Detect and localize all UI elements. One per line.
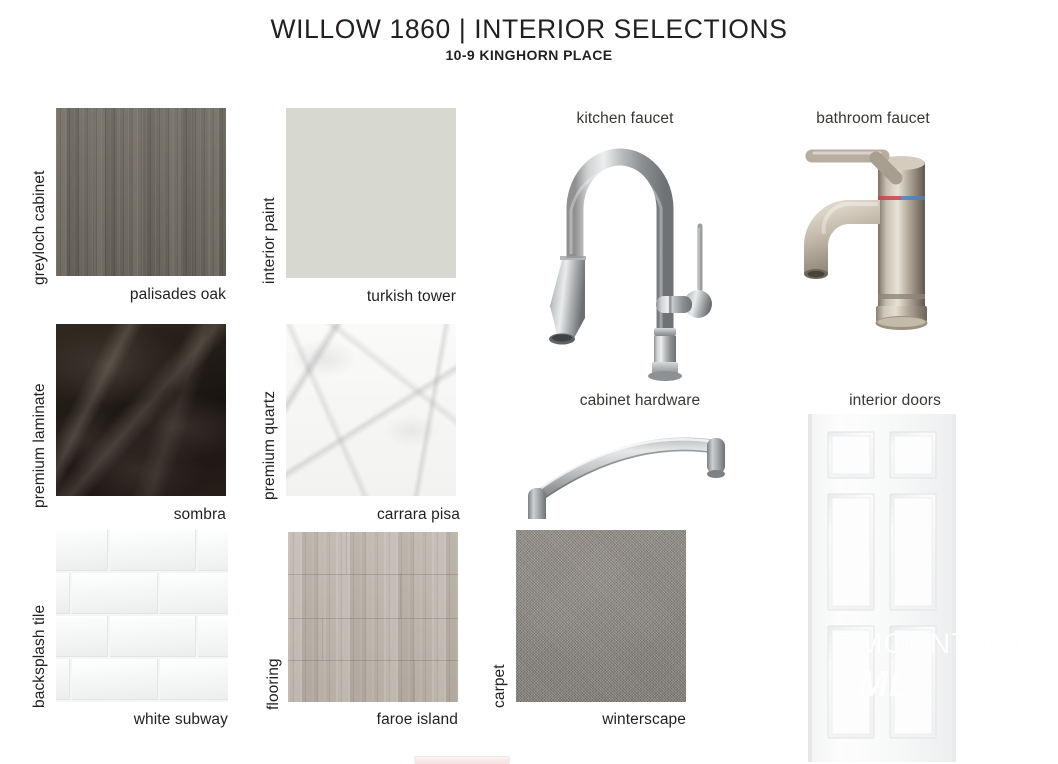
subway-tile-brick [72, 573, 158, 614]
plank-seam [288, 618, 458, 619]
plank-end-seam [322, 618, 323, 660]
bottom-edge-artifact [414, 756, 510, 764]
subway-tile-brick [160, 659, 228, 700]
product-label-turkish-tower: turkish tower [256, 288, 456, 306]
subway-tile-brick [110, 530, 196, 571]
subway-tile-brick [110, 616, 196, 657]
category-label-carpet: carpet [492, 642, 508, 708]
plank-seam [288, 660, 458, 661]
category-label-backsplash-tile: backsplash tile [32, 560, 48, 708]
product-label-white-subway: white subway [28, 711, 228, 729]
plank-end-seam [400, 574, 401, 618]
product-label-winterscape: winterscape [486, 711, 686, 729]
swatch-carpet[interactable] [516, 530, 686, 702]
product-label-palisades-oak: palisades oak [26, 286, 226, 304]
subway-tile-brick [56, 573, 70, 614]
fixture-label-bathroom-faucet: bathroom faucet [748, 110, 998, 128]
interior-door-image[interactable] [808, 414, 956, 762]
kitchen-faucet-image[interactable] [528, 132, 738, 382]
fixture-label-kitchen-faucet: kitchen faucet [500, 110, 750, 128]
category-label-interior-paint: interior paint [262, 168, 278, 284]
category-label-flooring: flooring [266, 634, 282, 710]
swatch-interior-paint[interactable] [286, 108, 456, 278]
plank-seam [288, 574, 458, 575]
subway-tile-brick [56, 616, 108, 657]
fixture-label-cabinet-hardware: cabinet hardware [495, 392, 785, 410]
subway-tile-brick [56, 530, 108, 571]
fixture-label-interior-doors: interior doors [770, 392, 1020, 410]
subway-tile-brick [198, 530, 228, 571]
swatch-backsplash-tile[interactable] [56, 530, 228, 702]
cabinet-hardware-image[interactable] [515, 414, 740, 519]
product-label-faroe-island: faroe island [258, 711, 458, 729]
product-label-sombra: sombra [26, 506, 226, 524]
category-label-premium-laminate: premium laminate [32, 340, 48, 508]
plank-end-seam [346, 532, 347, 574]
subway-tile-brick [56, 659, 70, 700]
product-label-carrara-pisa: carrara pisa [256, 506, 460, 524]
swatch-premium-quartz[interactable] [286, 324, 456, 496]
subway-tile-brick [72, 659, 158, 700]
subway-tile-brick [160, 573, 228, 614]
swatch-premium-laminate[interactable] [56, 324, 226, 496]
plank-end-seam [414, 660, 415, 702]
selection-backsplash-tile[interactable]: backsplash tile white subway [0, 0, 172, 172]
category-label-premium-quartz: premium quartz [262, 368, 278, 500]
swatch-flooring[interactable] [288, 532, 458, 702]
bathroom-faucet-image[interactable] [788, 134, 978, 334]
subway-tile-brick [198, 616, 228, 657]
